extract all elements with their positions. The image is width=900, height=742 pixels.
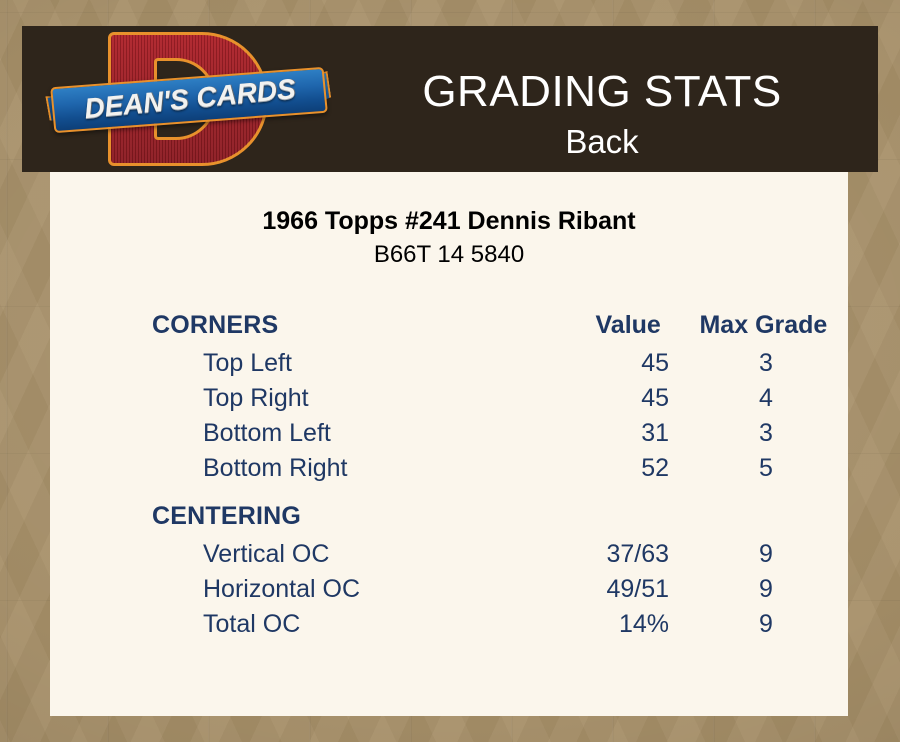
row-value-top-left: 45	[504, 349, 669, 378]
section-header-row: CORNERSValueMax Grade	[152, 311, 852, 349]
header-bar: DEAN'S CARDS GRADING STATS Back	[22, 26, 878, 172]
stat-section-centering: CENTERINGVertical OC37/639Horizontal OC4…	[152, 502, 852, 645]
row-value-bottom-left: 31	[504, 419, 669, 448]
row-max-grade-bottom-left: 3	[669, 419, 849, 448]
row-max-grade-vertical-oc: 9	[669, 540, 849, 569]
row-max-grade-horizontal-oc: 9	[669, 575, 849, 604]
row-label-top-right: Top Right	[152, 384, 504, 413]
row-label-top-left: Top Left	[152, 349, 504, 378]
row-max-grade-total-oc: 9	[669, 610, 849, 639]
grading-stats-table: CORNERSValueMax GradeTop Left453Top Righ…	[152, 311, 852, 645]
row-label-bottom-right: Bottom Right	[152, 454, 504, 483]
section-title-centering: CENTERING	[152, 502, 498, 531]
table-row: Total OC14%9	[152, 610, 852, 645]
row-label-horizontal-oc: Horizontal OC	[152, 575, 504, 604]
table-row: Top Left453	[152, 349, 852, 384]
card-title: 1966 Topps #241 Dennis Ribant	[50, 206, 848, 236]
page-title: GRADING STATS	[352, 66, 852, 118]
row-label-vertical-oc: Vertical OC	[152, 540, 504, 569]
deans-cards-logo[interactable]: DEAN'S CARDS	[48, 29, 330, 169]
row-label-total-oc: Total OC	[152, 610, 504, 639]
row-value-horizontal-oc: 49/51	[504, 575, 669, 604]
column-header-max-grade: Max Grade	[661, 311, 852, 340]
row-max-grade-top-left: 3	[669, 349, 849, 378]
section-spacer	[152, 489, 852, 502]
table-row: Bottom Left313	[152, 419, 852, 454]
row-value-vertical-oc: 37/63	[504, 540, 669, 569]
table-row: Horizontal OC49/519	[152, 575, 852, 610]
row-label-bottom-left: Bottom Left	[152, 419, 504, 448]
row-value-bottom-right: 52	[504, 454, 669, 483]
table-row: Top Right454	[152, 384, 852, 419]
column-header-value: Value	[498, 311, 660, 340]
content-panel: 1966 Topps #241 Dennis Ribant B66T 14 58…	[50, 172, 848, 716]
table-row: Bottom Right525	[152, 454, 852, 489]
section-title-corners: CORNERS	[152, 311, 498, 340]
stat-section-corners: CORNERSValueMax GradeTop Left453Top Righ…	[152, 311, 852, 489]
page-subtitle: Back	[352, 122, 852, 162]
table-row: Vertical OC37/639	[152, 540, 852, 575]
section-header-row: CENTERING	[152, 502, 852, 540]
row-max-grade-top-right: 4	[669, 384, 849, 413]
row-max-grade-bottom-right: 5	[669, 454, 849, 483]
card-identifier: B66T 14 5840	[50, 240, 848, 270]
row-value-total-oc: 14%	[504, 610, 669, 639]
row-value-top-right: 45	[504, 384, 669, 413]
grading-stats-page: DEAN'S CARDS GRADING STATS Back 1966 Top…	[0, 0, 900, 742]
